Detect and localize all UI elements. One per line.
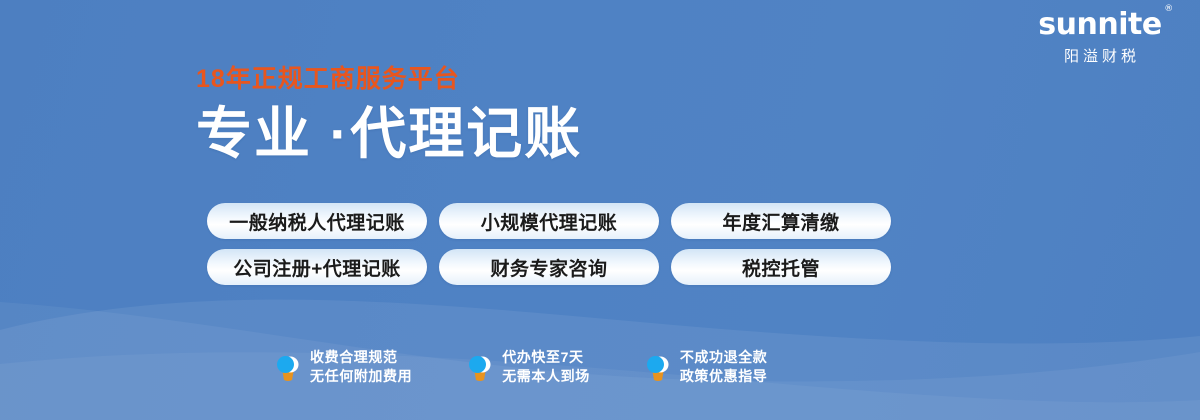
service-pill[interactable]: 财务专家咨询: [439, 249, 659, 285]
feature-strip: 收费合理规范 无任何附加费用 代办快至7天 无需本人到场: [275, 350, 767, 383]
service-pill[interactable]: 税控托管: [671, 249, 891, 285]
circle-dot-icon: [467, 352, 493, 382]
circle-dot-icon: [275, 352, 301, 382]
service-pill[interactable]: 年度汇算清缴: [671, 203, 891, 239]
brand-logo: sunnite ® 阳溢财税: [1020, 10, 1180, 66]
brand-wordmark: sunnite ®: [1038, 10, 1161, 40]
brand-name-cn: 阳溢财税: [1020, 45, 1180, 66]
service-pill[interactable]: 一般纳税人代理记账: [207, 203, 427, 239]
hero-headline: 专业 ·代理记账: [196, 102, 582, 166]
feature-text: 收费合理规范 无任何附加费用: [310, 350, 412, 383]
hero-text-block: 18年正规工商服务平台 专业 ·代理记账: [196, 66, 582, 166]
service-pill[interactable]: 公司注册+代理记账: [207, 249, 427, 285]
service-pill-grid: 一般纳税人代理记账 小规模代理记账 年度汇算清缴 公司注册+代理记账 财务专家咨…: [207, 203, 891, 285]
feature-line-1: 不成功退全款: [680, 350, 768, 365]
feature-text: 代办快至7天 无需本人到场: [502, 350, 590, 383]
promo-banner: sunnite ® 阳溢财税 18年正规工商服务平台 专业 ·代理记账 一般纳税…: [0, 0, 1200, 420]
registered-trademark-icon: ®: [1164, 5, 1173, 14]
feature-item: 收费合理规范 无任何附加费用: [275, 350, 412, 383]
feature-line-2: 无需本人到场: [502, 369, 590, 384]
feature-line-2: 政策优惠指导: [680, 369, 768, 384]
feature-item: 代办快至7天 无需本人到场: [467, 350, 590, 383]
hero-eyebrow: 18年正规工商服务平台: [196, 66, 582, 94]
brand-wordmark-text: sunnite: [1038, 7, 1161, 42]
service-pill[interactable]: 小规模代理记账: [439, 203, 659, 239]
circle-dot-icon: [645, 352, 671, 382]
feature-item: 不成功退全款 政策优惠指导: [645, 350, 768, 383]
feature-line-2: 无任何附加费用: [310, 369, 412, 384]
feature-text: 不成功退全款 政策优惠指导: [680, 350, 768, 383]
feature-line-1: 代办快至7天: [502, 350, 590, 365]
feature-line-1: 收费合理规范: [310, 350, 412, 365]
